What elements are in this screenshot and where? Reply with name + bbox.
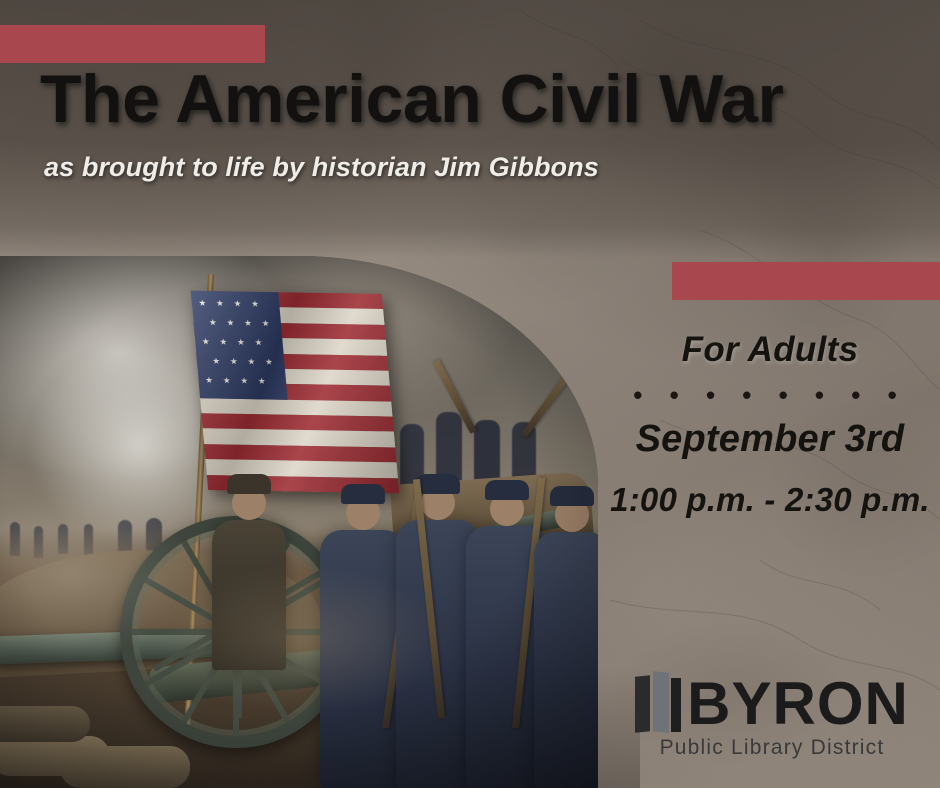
- dot-divider: • • • • • • • •: [600, 382, 940, 408]
- union-soldier-figure: [534, 532, 598, 788]
- kepi-icon: [341, 484, 385, 504]
- audience-label: For Adults: [600, 330, 940, 370]
- sandbag: [0, 706, 90, 742]
- battle-scene-image: [0, 256, 598, 788]
- page-title: The American Civil War: [40, 64, 900, 135]
- event-time: 1:00 p.m. - 2:30 p.m.: [600, 481, 940, 519]
- book-stack-icon: [635, 672, 681, 734]
- event-date: September 3rd: [600, 418, 940, 461]
- gunner-hat-icon: [227, 474, 271, 494]
- kepi-icon: [416, 474, 460, 494]
- page-subtitle: as brought to life by historian Jim Gibb…: [44, 152, 744, 183]
- kepi-icon: [485, 480, 529, 500]
- event-details: For Adults • • • • • • • • September 3rd…: [600, 330, 940, 519]
- event-poster: The American Civil War as brought to lif…: [0, 0, 940, 788]
- accent-bar-right: [672, 262, 940, 300]
- logo-wordmark: BYRON: [687, 675, 909, 732]
- gunner-figure: [212, 520, 286, 670]
- artillery-crew-figure: [436, 412, 462, 482]
- sandbag: [60, 746, 190, 788]
- library-logo: BYRON Public Library District: [612, 672, 932, 760]
- logo-tagline: Public Library District: [660, 736, 885, 760]
- american-flag-icon: [191, 291, 399, 494]
- kepi-icon: [550, 486, 594, 506]
- accent-bar-top-left: [0, 25, 265, 63]
